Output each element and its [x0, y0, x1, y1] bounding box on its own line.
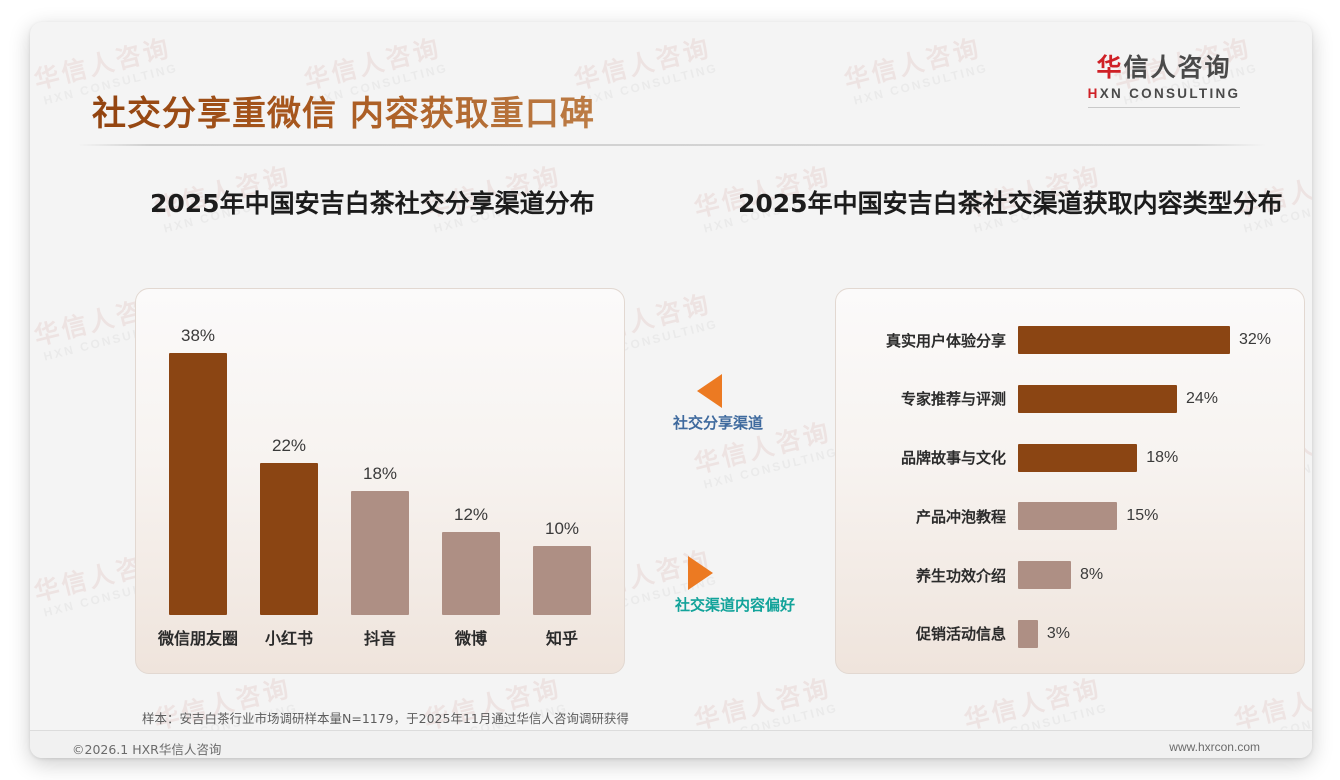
chart-title-left: 2025年中国安吉白茶社交分享渠道分布 [150, 184, 595, 220]
bar-column: 10%知乎 [533, 289, 591, 615]
bar-category-label: 抖音 [364, 625, 396, 649]
bar [1018, 326, 1230, 354]
callout-content-preference: 社交渠道内容偏好 [620, 556, 850, 615]
bar-row: 真实用户体验分享32% [836, 323, 1304, 357]
bar-category-label: 小红书 [265, 625, 313, 649]
bar-category-label: 微博 [455, 625, 487, 649]
logo-chinese: 华信人咨询 [1074, 54, 1254, 83]
bar [1018, 502, 1117, 530]
bar-value-label: 15% [1126, 507, 1158, 525]
footer-website: www.hxrcon.com [1169, 740, 1260, 754]
bar-value-label: 10% [545, 519, 579, 539]
triangle-right-icon [688, 556, 713, 590]
bar-category-label: 微信朋友圈 [158, 625, 238, 649]
bar-value-label: 8% [1080, 566, 1103, 584]
slide-footer: ©2026.1 HXR华信人咨询 www.hxrcon.com [30, 731, 1312, 758]
bar-column: 18%抖音 [351, 289, 409, 615]
callout-label: 社交分享渠道 [618, 412, 818, 433]
bar [1018, 385, 1177, 413]
bar [1018, 620, 1038, 648]
horizontal-bar-chart: 真实用户体验分享32%专家推荐与评测24%品牌故事与文化18%产品冲泡教程15%… [836, 289, 1304, 673]
bar [169, 353, 227, 615]
bar-category-label: 养生功效介绍 [836, 565, 1018, 586]
bar-category-label: 产品冲泡教程 [836, 506, 1018, 527]
title-divider [78, 144, 1266, 146]
bar-row: 品牌故事与文化18% [836, 441, 1304, 475]
bar [351, 491, 409, 615]
slide-card: 华信人咨询HXN CONSULTING华信人咨询HXN CONSULTING华信… [30, 22, 1312, 758]
company-logo: 华信人咨询 HXN CONSULTING [1074, 54, 1254, 108]
page-title: 社交分享重微信 内容获取重口碑 [92, 86, 595, 135]
bar-column: 38%微信朋友圈 [169, 289, 227, 615]
slide-header: 社交分享重微信 内容获取重口碑 华信人咨询 HXN CONSULTING [30, 22, 1312, 144]
bar-category-label: 促销活动信息 [836, 623, 1018, 644]
vertical-bar-chart: 38%微信朋友圈22%小红书18%抖音12%微博10%知乎 [136, 289, 624, 673]
logo-cn-accent: 华 [1096, 53, 1123, 82]
logo-en-rest: XN CONSULTING [1100, 86, 1241, 101]
bar-row: 专家推荐与评测24% [836, 382, 1304, 416]
logo-divider [1088, 107, 1240, 108]
sample-footnote: 样本：安吉白茶行业市场调研样本量N=1179，于2025年11月通过华信人咨询调… [142, 708, 629, 727]
bar-column: 22%小红书 [260, 289, 318, 615]
bar-value-label: 24% [1186, 390, 1218, 408]
triangle-left-icon [697, 374, 722, 408]
callout-label: 社交渠道内容偏好 [620, 594, 850, 615]
bar-row: 促销活动信息3% [836, 617, 1304, 651]
logo-en-accent: H [1088, 86, 1100, 101]
bar-value-label: 18% [363, 464, 397, 484]
bar-value-label: 18% [1146, 449, 1178, 467]
bar [1018, 561, 1071, 589]
logo-cn-rest: 信人咨询 [1124, 53, 1232, 82]
logo-english: HXN CONSULTING [1074, 86, 1254, 101]
bar [442, 532, 500, 615]
bar-column: 12%微博 [442, 289, 500, 615]
bar-category-label: 品牌故事与文化 [836, 447, 1018, 468]
bar-value-label: 38% [181, 326, 215, 346]
bar [260, 463, 318, 615]
bar-category-label: 知乎 [546, 625, 578, 649]
bar-value-label: 3% [1047, 625, 1070, 643]
bar-value-label: 12% [454, 505, 488, 525]
chart-title-right: 2025年中国安吉白茶社交渠道获取内容类型分布 [738, 184, 1283, 220]
bar-category-label: 真实用户体验分享 [836, 330, 1018, 351]
footer-copyright: ©2026.1 HXR华信人咨询 [72, 739, 221, 758]
bar-row: 养生功效介绍8% [836, 558, 1304, 592]
bar-row: 产品冲泡教程15% [836, 499, 1304, 533]
chart-panel-left: 38%微信朋友圈22%小红书18%抖音12%微博10%知乎 [135, 288, 625, 674]
bar [1018, 444, 1137, 472]
chart-panel-right: 真实用户体验分享32%专家推荐与评测24%品牌故事与文化18%产品冲泡教程15%… [835, 288, 1305, 674]
bar-value-label: 32% [1239, 331, 1271, 349]
callout-social-share-channel: 社交分享渠道 [618, 374, 818, 433]
bar-value-label: 22% [272, 436, 306, 456]
bar [533, 546, 591, 615]
bar-category-label: 专家推荐与评测 [836, 388, 1018, 409]
